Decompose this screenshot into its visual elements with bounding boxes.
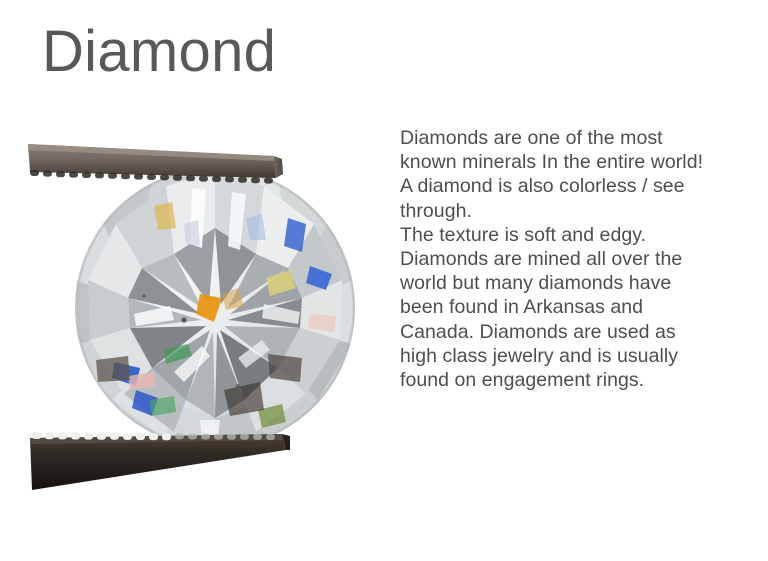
slide: Diamond (0, 0, 768, 561)
diamond-illustration (24, 128, 364, 500)
page-title: Diamond (42, 16, 276, 88)
diamond-stone (75, 168, 355, 448)
body-paragraph: Diamonds are one of the most known miner… (400, 126, 718, 392)
diamond-photo (24, 128, 364, 500)
